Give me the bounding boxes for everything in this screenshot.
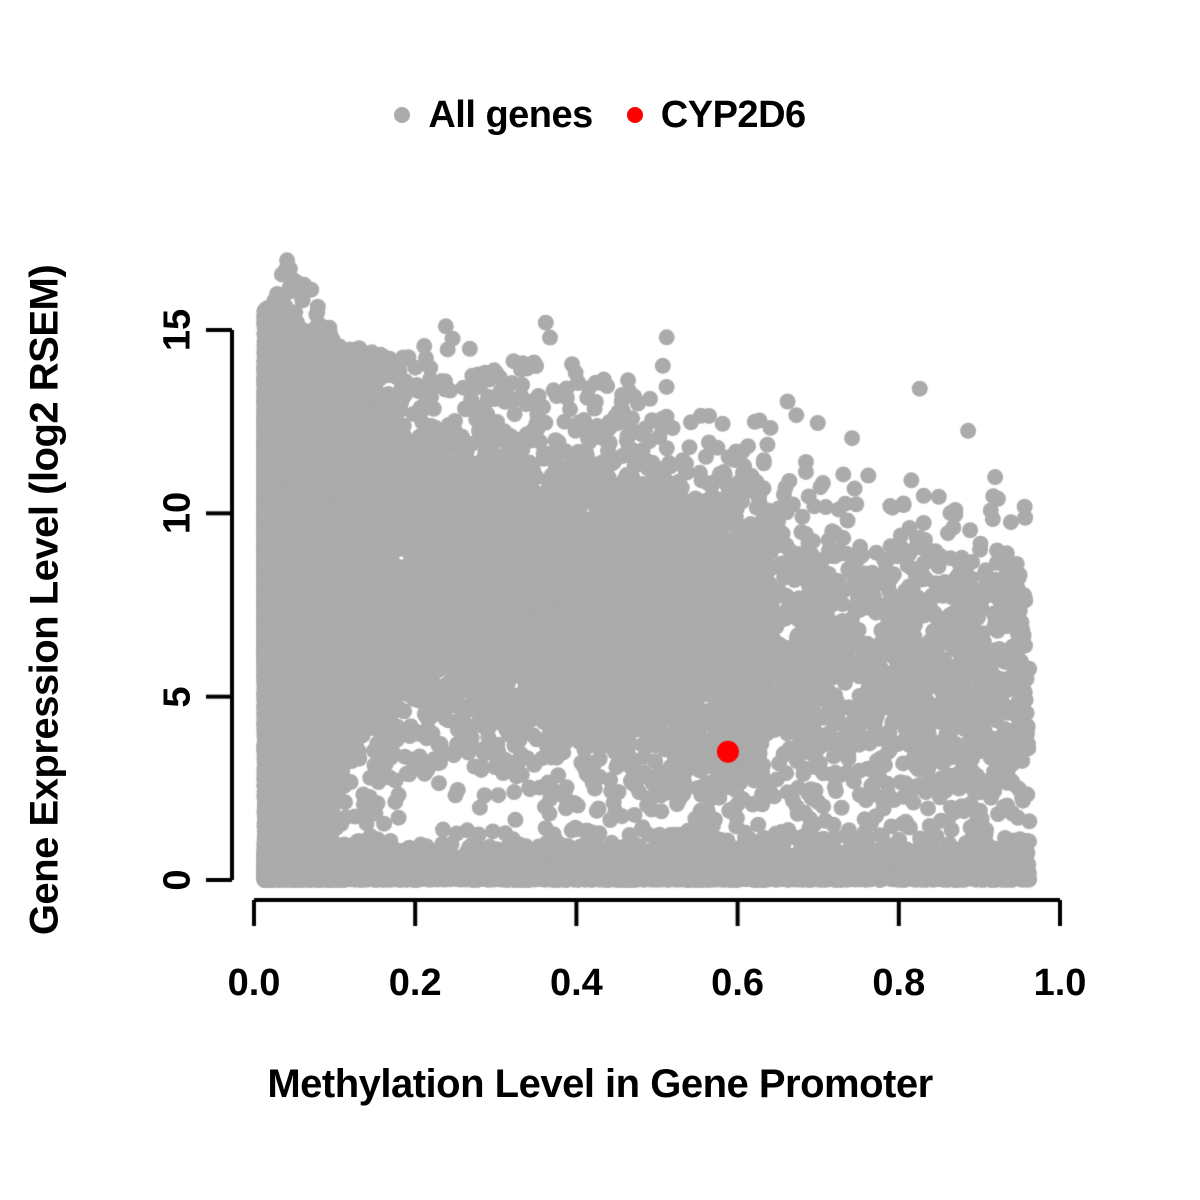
x-tick-label-2: 0.4 (550, 962, 603, 1005)
y-tick-label-3: 15 (157, 309, 200, 351)
y-tick-label-1: 5 (157, 686, 200, 707)
plot-area (0, 0, 1200, 1200)
scatter-plot-figure: All genes CYP2D6 0.00.20.40.60.81.0 0510… (0, 0, 1200, 1200)
x-tick-label-5: 1.0 (1034, 962, 1087, 1005)
x-tick-label-0: 0.0 (228, 962, 281, 1005)
x-axis-title: Methylation Level in Gene Promoter (0, 1062, 1200, 1107)
x-tick-label-1: 0.2 (389, 962, 442, 1005)
y-tick-label-2: 10 (157, 492, 200, 534)
x-tick-label-4: 0.8 (872, 962, 925, 1005)
y-tick-label-0: 0 (157, 869, 200, 890)
x-tick-label-3: 0.6 (711, 962, 764, 1005)
